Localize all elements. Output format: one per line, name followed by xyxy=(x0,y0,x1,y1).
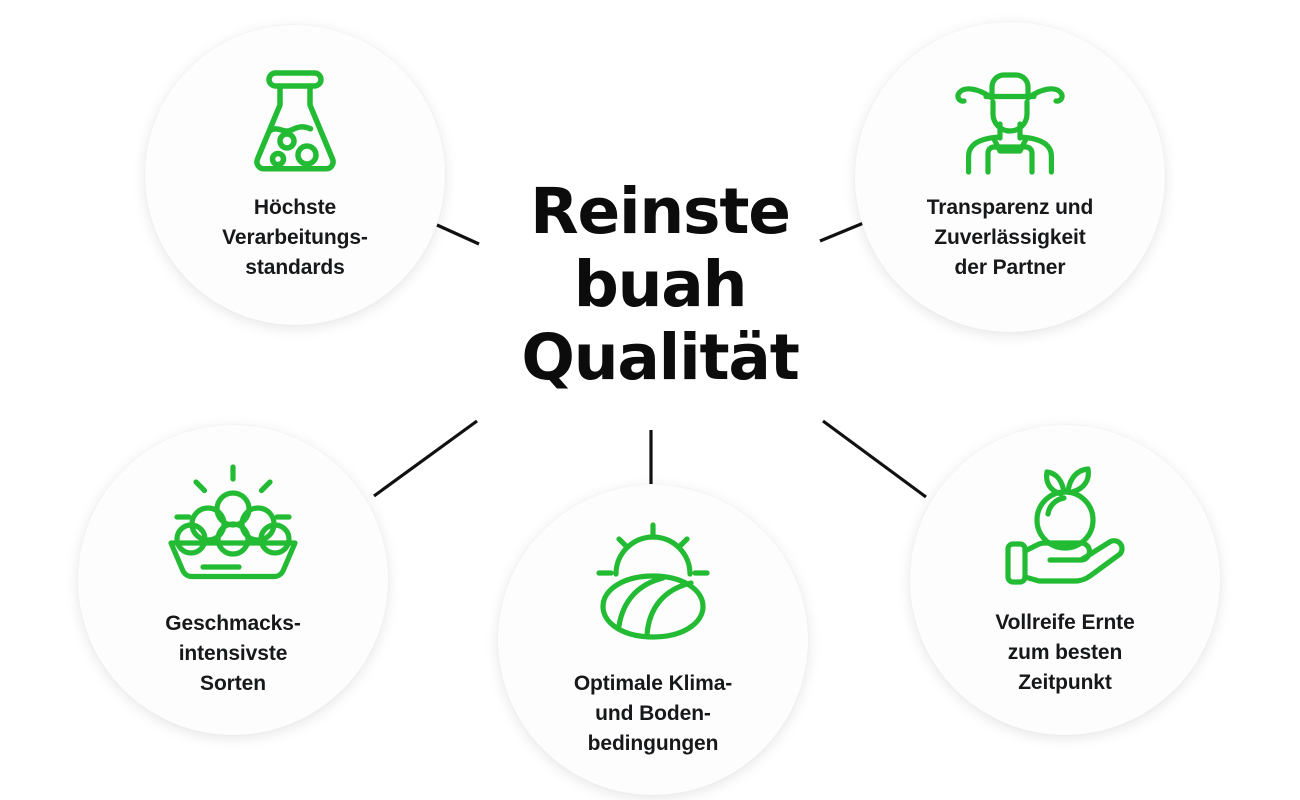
farmer-icon xyxy=(952,71,1068,177)
fruit-bowl-icon xyxy=(163,461,303,587)
node-climate[interactable]: Optimale Klima- und Boden- bedingungen xyxy=(498,485,808,795)
node-harvest[interactable]: Vollreife Ernte zum besten Zeitpunkt xyxy=(910,425,1220,735)
flask-icon xyxy=(247,67,343,179)
node-climate-label: Optimale Klima- und Boden- bedingungen xyxy=(566,669,740,758)
node-partners[interactable]: Transparenz und Zuverlässigkeit der Part… xyxy=(855,22,1165,332)
node-partners-label: Transparenz und Zuverlässigkeit der Part… xyxy=(919,193,1102,282)
sun-field-icon xyxy=(589,521,717,649)
connector-varieties xyxy=(374,421,477,496)
node-processing[interactable]: Höchste Verarbeitungs- standards xyxy=(145,25,445,325)
node-varieties-label: Geschmacks- intensivste Sorten xyxy=(157,609,308,698)
node-harvest-label: Vollreife Ernte zum besten Zeitpunkt xyxy=(987,608,1142,697)
node-processing-label: Höchste Verarbeitungs- standards xyxy=(214,193,376,282)
hand-fruit-icon xyxy=(998,462,1132,586)
connector-harvest xyxy=(823,421,926,497)
infographic-canvas: Reinste buah Qualität Höchste Verarbeitu… xyxy=(0,0,1300,800)
center-title: Reinste buah Qualität xyxy=(470,175,850,394)
node-varieties[interactable]: Geschmacks- intensivste Sorten xyxy=(78,425,388,735)
